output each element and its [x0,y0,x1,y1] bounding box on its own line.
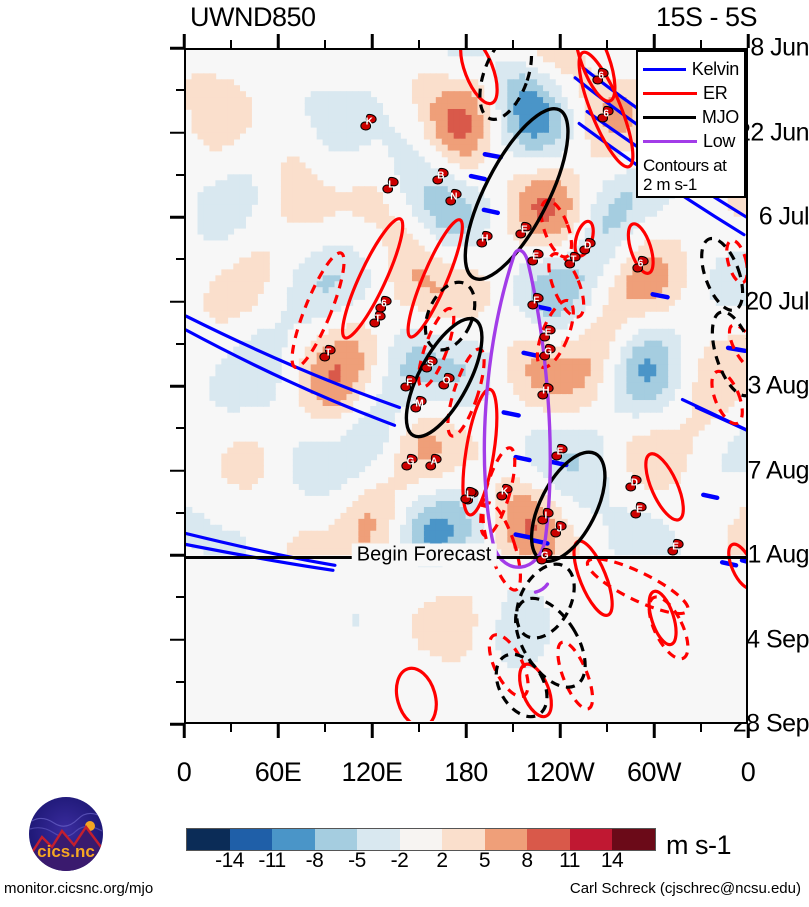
tropical-cyclone-icon[interactable]: G [401,452,420,471]
tropical-cyclone-icon[interactable]: F [400,373,419,392]
x-tick-mark [277,724,280,738]
x-tick-mark [371,724,374,738]
x-tick-mark [559,724,562,738]
legend-swatch-low [643,140,697,143]
colorbar-swatch [272,829,315,850]
mjo-contour-dashed [704,307,746,401]
kelvin-contour [186,330,395,425]
x-minor-tick [230,724,232,732]
tc-label: M [410,394,429,413]
legend-note-line2: 2 m s-1 [643,175,739,194]
colorbar-swatch [230,829,273,850]
tropical-cyclone-icon[interactable]: J [550,519,569,538]
tropical-cyclone-icon[interactable]: 6 [374,295,393,314]
x-minor-tick [512,724,514,732]
y-tick-mark [170,469,184,472]
er-contour [390,664,443,722]
colorbar-tick-label: -11 [258,849,285,873]
legend-contour-note: Contours at 2 m s-1 [643,156,739,194]
er-contour [644,588,682,648]
y-minor-tick [176,258,184,260]
tc-label: S [421,354,440,373]
tropical-cyclone-icon[interactable]: T [319,343,338,362]
tc-label: O [437,372,456,391]
x-minor-tick [606,40,608,48]
kelvin-segment [485,154,501,157]
tc-label: G [535,546,554,565]
tropical-cyclone-icon[interactable]: 6 [597,105,616,124]
tc-label: E [515,221,534,240]
legend: Kelvin ER MJO Low Contours at 2 m s-1 [636,50,746,198]
y-tick-mark [170,300,184,303]
x-tick-label: 120E [341,757,402,788]
kelvin-segment [728,348,745,351]
kelvin-segment [703,495,717,498]
tc-label: E [630,500,649,519]
tc-label: A [425,453,444,472]
tropical-cyclone-icon[interactable]: A [425,453,444,472]
tc-label: E [666,537,685,556]
tropical-cyclone-icon[interactable]: K [360,113,379,132]
tc-label: G [539,343,558,362]
colorbar-tick-label: -8 [306,849,324,873]
tropical-cyclone-icon[interactable]: S [421,354,440,373]
legend-label-kelvin: Kelvin [692,59,739,80]
tropical-cyclone-icon[interactable]: D [625,473,644,492]
tropical-cyclone-icon[interactable]: N [444,187,463,206]
colorbar-swatch [570,829,613,850]
colorbar-tick-label: -14 [215,849,244,873]
colorbar-swatch [315,829,358,850]
colorbar [186,828,656,851]
tropical-cyclone-icon[interactable]: H [475,230,494,249]
latitude-range-label: 15S - 5S [656,2,757,33]
tc-label: B [431,167,450,186]
cicsnc-logo: cics.nc [12,795,120,873]
tc-label: 6 [374,295,393,314]
legend-note-line1: Contours at [643,156,739,175]
kelvin-segment [524,353,538,356]
colorbar-swatch [400,829,443,850]
kelvin-segment [471,176,485,179]
x-minor-tick [324,724,326,732]
colorbar-swatch [442,829,485,850]
y-minor-tick [176,427,184,429]
tc-label: 6 [631,254,650,273]
tropical-cyclone-icon[interactable]: G [539,343,558,362]
tc-label: J [550,519,569,538]
x-tick-mark [183,34,186,48]
tropical-cyclone-icon[interactable]: M [410,394,429,413]
tropical-cyclone-icon[interactable]: E [550,443,569,462]
er-contour [566,537,620,620]
tc-label: N [444,187,463,206]
x-tick-mark [747,34,750,48]
y-minor-tick [176,596,184,598]
kelvin-segment [653,294,668,297]
colorbar-tick-label: 11 [559,849,580,873]
kelvin-segment [504,412,519,415]
tc-label: T [564,251,583,270]
x-tick-mark [559,34,562,48]
x-minor-tick [418,724,420,732]
tc-label: D [625,473,644,492]
x-tick-label: 180 [444,757,488,788]
legend-item-er: ER [643,81,739,105]
legend-item-low: Low [643,129,739,153]
tc-label: T [319,343,338,362]
x-tick-mark [653,34,656,48]
tc-label: F [400,373,419,392]
tropical-cyclone-icon[interactable]: 6 [592,66,611,85]
tropical-cyclone-icon[interactable]: E [666,537,685,556]
logo-wordmark: cics.nc [37,842,95,861]
colorbar-swatch [187,829,230,850]
tropical-cyclone-icon[interactable]: L [382,176,401,195]
tropical-cyclone-icon[interactable]: B [431,167,450,186]
footer-credit: Carl Schreck (cjschrec@ncsu.edu) [570,880,801,897]
y-tick-mark [170,216,184,219]
page-title: UWND850 [190,2,316,33]
mjo-contour-dashed [416,275,485,358]
low-contour [535,584,547,592]
x-minor-tick [230,40,232,48]
tropical-cyclone-icon[interactable]: E [515,221,534,240]
x-tick-label: 60E [255,757,302,788]
footer-url: monitor.cicsnc.org/mjo [4,880,153,897]
x-tick-label: 120W [526,757,595,788]
tropical-cyclone-icon[interactable]: T [564,251,583,270]
y-minor-tick [176,343,184,345]
tc-label: K [360,113,379,132]
colorbar-tick-label: 14 [601,849,623,873]
mjo-contour-dashed [501,586,599,699]
tc-label: E [539,323,558,342]
legend-swatch-kelvin [643,68,686,71]
colorbar-tick-label: -2 [391,849,409,873]
tc-label: 6 [592,66,611,85]
mjo-contour-dashed [470,50,542,126]
tc-label: K [495,483,514,502]
x-minor-tick [700,40,702,48]
colorbar-swatch [357,829,400,850]
kelvin-segment [516,457,530,460]
x-tick-label: 60W [627,757,681,788]
tropical-cyclone-icon[interactable]: H [536,381,555,400]
x-tick-mark [277,34,280,48]
x-minor-tick [324,40,326,48]
kelvin-segment [516,535,531,538]
legend-swatch-er [643,92,697,95]
y-tick-mark [170,131,184,134]
tropical-cyclone-icon[interactable]: G [535,546,554,565]
legend-swatch-mjo [643,116,696,119]
x-minor-tick [700,724,702,732]
y-minor-tick [176,681,184,683]
colorbar-tick-label: 2 [436,849,447,873]
er-contour-dashed [551,638,600,713]
x-tick-mark [465,724,468,738]
x-minor-tick [418,40,420,48]
x-tick-mark [653,724,656,738]
colorbar-tick-label: 5 [479,849,490,873]
y-minor-tick [176,512,184,514]
x-minor-tick [512,40,514,48]
colorbar-tick-label: -5 [348,849,366,873]
x-tick-label: 0 [177,757,192,788]
begin-forecast-label: Begin Forecast [352,544,497,567]
legend-label-er: ER [703,83,727,104]
tc-label: L [460,485,479,504]
y-minor-tick [176,89,184,91]
legend-label-low: Low [703,131,735,152]
tc-label: H [536,381,555,400]
colorbar-tick-label: 8 [521,849,532,873]
x-tick-mark [183,724,186,738]
legend-item-kelvin: Kelvin [643,57,739,81]
legend-label-mjo: MJO [702,107,739,128]
y-tick-mark [170,554,184,557]
kelvin-segment [484,210,498,213]
er-contour [453,50,505,108]
tropical-cyclone-icon[interactable]: F [527,292,546,311]
tc-label: G [401,452,420,471]
tropical-cyclone-icon[interactable]: E [526,247,545,266]
colorbar-swatch [612,829,655,850]
x-tick-mark [465,34,468,48]
legend-item-mjo: MJO [643,105,739,129]
colorbar-swatch [485,829,528,850]
tc-label: L [382,176,401,195]
colorbar-swatch [527,829,570,850]
tropical-cyclone-icon[interactable]: K [495,483,514,502]
y-tick-mark [170,385,184,388]
tc-label: H [475,230,494,249]
tropical-cyclone-icon[interactable]: O [437,372,456,391]
y-tick-mark [170,638,184,641]
tc-label: 6 [597,105,616,124]
tc-label: F [527,292,546,311]
tropical-cyclone-icon[interactable]: 6 [631,254,650,273]
x-tick-mark [747,724,750,738]
x-tick-mark [371,34,374,48]
kelvin-segment [742,560,746,563]
tc-label: E [550,443,569,462]
tropical-cyclone-icon[interactable]: L [460,485,479,504]
y-minor-tick [176,174,184,176]
x-tick-label: 0 [741,757,756,788]
er-contour [513,660,558,721]
tc-label: E [526,247,545,266]
tropical-cyclone-icon[interactable]: E [539,323,558,342]
colorbar-unit-label: m s-1 [666,830,731,861]
tropical-cyclone-icon[interactable]: E [630,500,649,519]
x-minor-tick [606,724,608,732]
